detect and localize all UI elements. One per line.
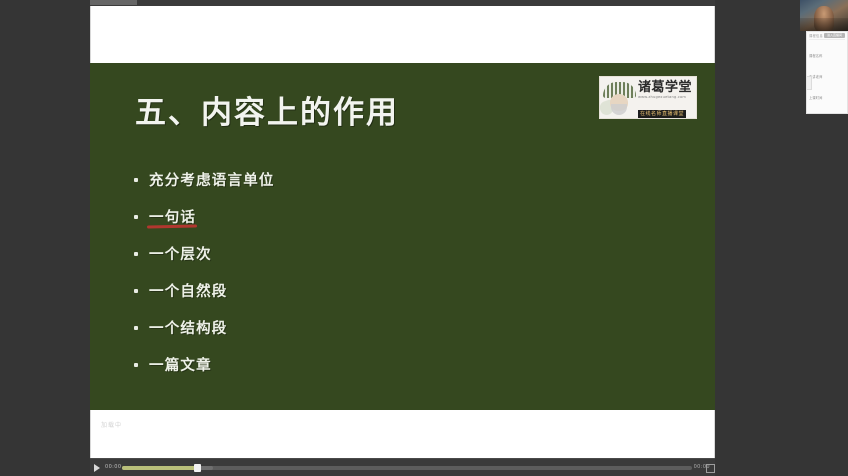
divider <box>809 39 845 40</box>
bullet-dot-icon <box>134 178 138 182</box>
player-control-bar[interactable]: 00:00 00:00 <box>90 458 715 476</box>
list-item: 上课时间 <box>807 83 847 104</box>
panel-header: 课程信息 进入直播间 <box>807 32 847 38</box>
enter-live-room-button[interactable]: 进入直播间 <box>824 33 845 38</box>
list-item: 一句话 <box>134 198 654 235</box>
brand-logo: 诸葛学堂 www.zhugexuetang.com 在线名师直播课堂 <box>599 76 697 119</box>
bullet-text: 一个结构段 <box>149 317 228 338</box>
bullet-dot-icon <box>134 326 138 330</box>
instructor-webcam-feed[interactable] <box>800 0 848 31</box>
app-window: 加载中 00:00 00:00 五、内容上的作用 诸 <box>0 0 848 475</box>
list-item: 一篇文章 <box>134 346 654 383</box>
course-info-panel[interactable]: 课程信息 进入直播间 课程名称 主讲老师 上课时间 课时 状态 资料下载 查看课… <box>806 31 848 114</box>
bullet-dot-icon <box>134 215 138 219</box>
slide-bullet-list: 充分考虑语言单位 一句话 一个层次 一个自然段 一个结构段 一篇文章 <box>134 161 654 383</box>
topbar-chip <box>90 0 137 5</box>
panel-collapse-handle[interactable] <box>806 76 812 90</box>
progress-fill <box>122 466 197 470</box>
red-underline-annotation <box>147 224 197 228</box>
bullet-dot-icon <box>134 363 138 367</box>
player-whitespace-top <box>90 6 715 63</box>
list-item: 一个层次 <box>134 235 654 272</box>
progress-handle[interactable] <box>194 464 201 472</box>
logo-tagline: 在线名师直播课堂 <box>638 110 686 118</box>
webcam-vignette <box>800 18 848 31</box>
slide-title: 五、内容上的作用 <box>135 87 399 132</box>
loading-label: 加载中 <box>101 420 122 429</box>
row-label: 上课时间 <box>809 96 823 100</box>
player-whitespace-bottom: 加载中 <box>90 410 715 458</box>
list-item: 课时 <box>807 104 847 114</box>
progress-scrubber[interactable] <box>122 466 692 470</box>
play-icon[interactable] <box>94 464 100 472</box>
bullet-text: 一个层次 <box>149 243 212 264</box>
logo-url: www.zhugexuetang.com <box>638 95 693 100</box>
row-label: 课程名称 <box>809 54 823 58</box>
list-item: 主讲老师 <box>807 62 847 83</box>
bullet-dot-icon <box>134 252 138 256</box>
presentation-slide: 五、内容上的作用 诸葛学堂 www.zhugexuetang.com 在线名师直… <box>90 63 715 410</box>
list-item: 充分考虑语言单位 <box>134 161 654 198</box>
list-item: 一个结构段 <box>134 309 654 346</box>
fullscreen-icon[interactable] <box>706 464 715 473</box>
bullet-dot-icon <box>134 289 138 293</box>
logo-text-group: 诸葛学堂 www.zhugexuetang.com 在线名师直播课堂 <box>638 76 696 119</box>
zhuge-figure-icon <box>600 77 638 118</box>
list-item: 课程名称 <box>807 41 847 62</box>
current-time-label: 00:00 <box>105 464 121 470</box>
list-item: 一个自然段 <box>134 272 654 309</box>
bullet-text: 一个自然段 <box>149 280 228 301</box>
bullet-text: 一篇文章 <box>149 354 212 375</box>
logo-brand: 诸葛学堂 <box>638 80 693 95</box>
beard-icon <box>611 104 627 115</box>
panel-title: 课程信息 <box>809 33 823 38</box>
bullet-text: 充分考虑语言单位 <box>149 169 275 190</box>
